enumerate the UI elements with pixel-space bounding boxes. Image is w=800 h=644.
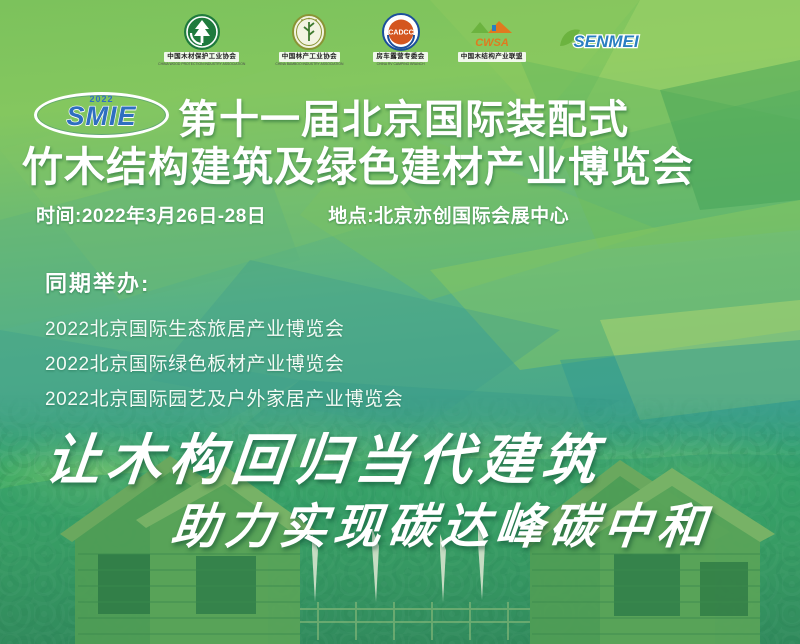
sponsor-logo-1[interactable]: 中国林产工业协会 CHINA BAMBOO INDUSTRY ASSOCIATI… [275,13,343,66]
sponsor-en-1: CHINA BAMBOO INDUSTRY ASSOCIATION [275,62,343,66]
sponsor-logo-bar: 中国木材保护工业协会 CHINA WOOD PROTECTION INDUSTR… [0,8,800,70]
sponsor-logo-2[interactable]: CADCC 房车露营专委会 CHINA RV CAMPING BRANCH [373,13,427,66]
slogan-line-2: 助力实现碳达峰碳中和 [168,487,715,557]
smie-logo: 2022 SMIE [34,92,169,138]
cadcc-roundel-icon: CADCC [382,13,420,51]
tree-shield-icon [183,13,221,51]
concurrent-item-1: 2022北京国际绿色板材产业博览会 [45,347,403,382]
concurrent-heading: 同期举办: [45,266,403,298]
sponsor-logo-3[interactable]: CWSA 中国木结构产业联盟 [458,17,526,62]
sponsor-name-2: 房车露营专委会 [373,52,427,62]
sponsor-en-0: CHINA WOOD PROTECTION INDUSTRY ASSOCIATI… [158,62,245,66]
senmei-abbr: SENMEI [573,32,639,51]
cwsa-abbr: CWSA [475,37,509,49]
sponsor-name-1: 中国林产工业协会 [279,52,340,62]
sponsor-logo-0[interactable]: 中国木材保护工业协会 CHINA WOOD PROTECTION INDUSTR… [158,13,245,66]
leaf-wordmark-icon: SENMEI [556,24,642,54]
house-roof-icon: CWSA [468,17,516,51]
bamboo-seal-icon [290,13,328,51]
exhibition-poster: 中国木材保护工业协会 CHINA WOOD PROTECTION INDUSTR… [0,0,800,644]
event-meta: 时间:2022年3月26日-28日 地点:北京亦创国际会展中心 [36,205,736,229]
concurrent-item-0: 2022北京国际生态旅居产业博览会 [45,312,403,347]
smie-wordmark: SMIE [66,101,136,132]
sponsor-en-2: CHINA RV CAMPING BRANCH [377,62,425,66]
sponsor-name-3: 中国木结构产业联盟 [458,52,526,62]
sponsor-logo-4[interactable]: SENMEI [556,24,642,54]
cadcc-abbr: CADCC [388,29,413,36]
headline-line-2: 竹木结构建筑及绿色建材产业博览会 [22,143,792,191]
slogan-line-1: 让木构回归当代建筑 [42,415,608,495]
concurrent-item-2: 2022北京国际园艺及户外家居产业博览会 [45,382,403,417]
event-venue: 地点:北京亦创国际会展中心 [328,205,569,229]
event-date: 时间:2022年3月26日-28日 [36,205,266,229]
headline-line-1: 第十一届北京国际装配式 [178,97,788,143]
sponsor-name-0: 中国木材保护工业协会 [164,52,239,62]
concurrent-events: 同期举办: 2022北京国际生态旅居产业博览会 2022北京国际绿色板材产业博览… [45,266,403,417]
